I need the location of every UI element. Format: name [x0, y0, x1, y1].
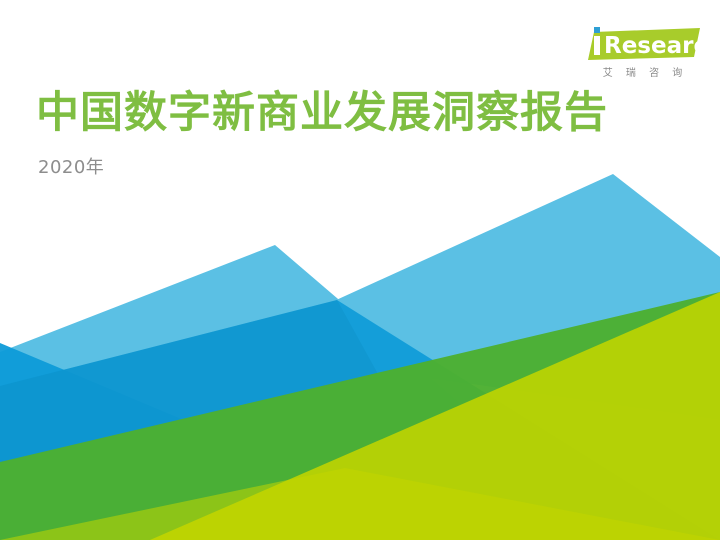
report-cover-slide: Research 艾 瑞 咨 询 中国数字新商业发展洞察报告 2020年: [0, 0, 720, 540]
logo-wordmark: Research: [604, 33, 702, 59]
logo-i-dot-icon: [594, 27, 600, 33]
page-subtitle-year: 2020年: [38, 153, 676, 179]
iresearch-logo: Research 艾 瑞 咨 询: [582, 26, 702, 88]
page-title: 中国数字新商业发展洞察报告: [36, 88, 676, 139]
title-area: 中国数字新商业发展洞察报告 2020年: [36, 88, 676, 179]
logo-i-stem-icon: [594, 36, 600, 55]
iresearch-logo-icon: Research: [582, 26, 702, 62]
logo-subtitle: 艾 瑞 咨 询: [588, 64, 702, 79]
